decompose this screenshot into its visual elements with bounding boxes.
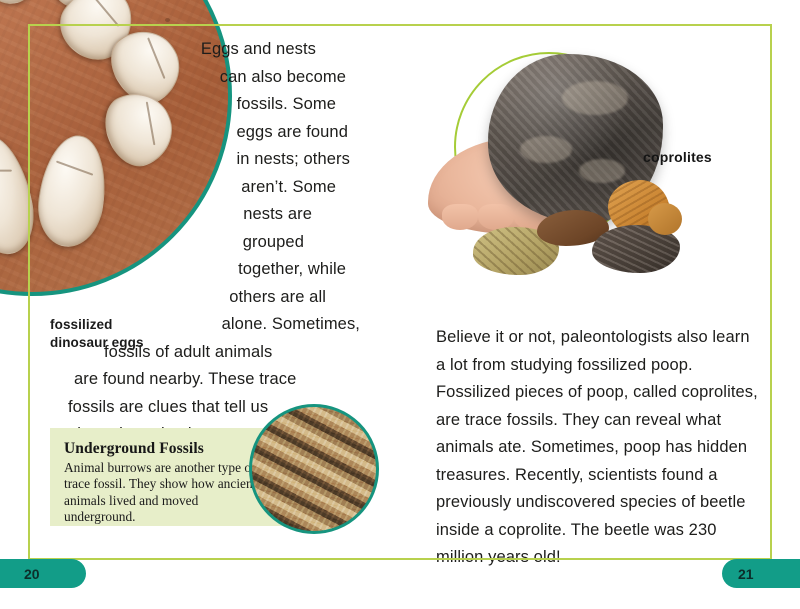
coprolites-photo: [420, 20, 710, 270]
body-line: million years old!: [436, 544, 766, 572]
body-line: a lot from studying fossilized poop.: [436, 352, 766, 380]
right-body-text: Believe it or not, paleontologists also …: [436, 324, 766, 572]
body-line: are found nearby. These trace: [74, 366, 378, 394]
body-line: Eggs and nests: [128, 36, 378, 64]
coprolites-photo-label: coprolites: [643, 149, 712, 165]
body-line: others are all: [128, 284, 378, 312]
body-line: aren’t. Some: [128, 174, 378, 202]
body-line: Fossilized pieces of poop, called coprol…: [436, 379, 766, 407]
body-line: together, while: [128, 256, 378, 284]
page-number-left: 20: [0, 559, 86, 588]
body-line: eggs are found: [128, 119, 378, 147]
body-line: are trace fossils. They can reveal what: [436, 407, 766, 435]
coprolite-specimen: [648, 203, 682, 235]
book-page-spread: fossilized dinosaur eggs Eggs and nests …: [0, 0, 800, 609]
egg-caption-line: dinosaur: [50, 335, 108, 350]
body-line: alone. Sometimes,: [128, 311, 378, 339]
callout-heading: Underground Fossils: [64, 440, 271, 458]
page-number-right: 21: [722, 559, 800, 588]
body-line: animals ate. Sometimes, poop has hidden: [436, 434, 766, 462]
body-line: inside a coprolite. The beetle was 230: [436, 517, 766, 545]
body-line: Believe it or not, paleontologists also …: [436, 324, 766, 352]
body-line: nests are: [128, 201, 378, 229]
right-page: coprolites Believe it or not, paleontolo…: [400, 0, 800, 560]
callout-body: Animal burrows are another type of trace…: [64, 460, 271, 526]
body-line: in nests; others: [128, 146, 378, 174]
body-line: fossils. Some: [128, 91, 378, 119]
egg-caption-line: fossilized: [50, 317, 113, 332]
body-line: fossils of adult animals: [104, 339, 378, 367]
callout-line: Animal burrows are another: [64, 460, 215, 475]
body-line: can also become: [128, 64, 378, 92]
animal-burrow-photo: [249, 404, 379, 534]
body-line: grouped: [128, 229, 378, 257]
body-line: treasures. Recently, scientists found a: [436, 462, 766, 490]
burrow-texture-overlay: [249, 404, 379, 534]
left-body-text: Eggs and nests can also become fossils. …: [128, 36, 378, 449]
body-line: previously undiscovered species of beetl…: [436, 489, 766, 517]
left-page: fossilized dinosaur eggs Eggs and nests …: [0, 0, 400, 560]
